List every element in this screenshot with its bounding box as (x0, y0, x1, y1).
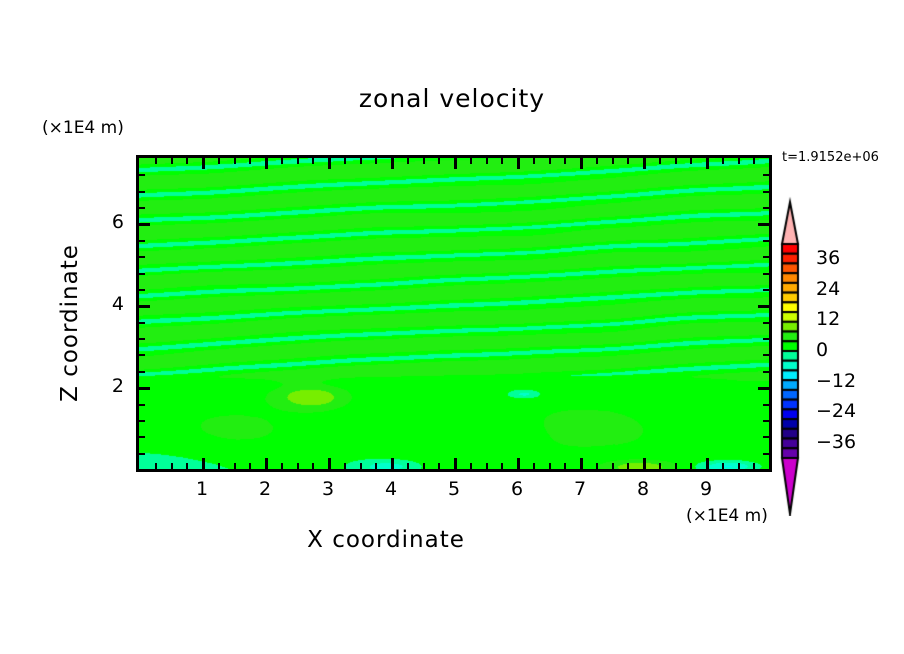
x-major-tick (580, 158, 583, 169)
y-minor-tick (139, 371, 145, 373)
x-minor-tick (690, 463, 692, 469)
x-minor-tick (249, 158, 251, 164)
x-minor-tick (549, 158, 551, 164)
y-major-tick (758, 305, 769, 308)
x-minor-tick (155, 158, 157, 164)
x-minor-tick (722, 158, 724, 164)
x-minor-tick (612, 463, 614, 469)
x-minor-tick (690, 158, 692, 164)
y-minor-tick (763, 273, 769, 275)
x-major-tick (202, 158, 205, 169)
x-minor-tick (234, 158, 236, 164)
x-minor-tick (407, 158, 409, 164)
y-minor-tick (139, 338, 145, 340)
x-minor-tick (234, 463, 236, 469)
y-minor-tick (139, 322, 145, 324)
x-minor-tick (438, 158, 440, 164)
x-minor-tick (297, 158, 299, 164)
x-major-tick (643, 158, 646, 169)
y-minor-tick (763, 371, 769, 373)
x-major-tick (454, 158, 457, 169)
x-minor-tick (360, 463, 362, 469)
colorbar: 3624120−12−24−36 (776, 196, 816, 516)
y-minor-tick (139, 174, 145, 176)
x-minor-tick (186, 463, 188, 469)
x-minor-tick (186, 158, 188, 164)
x-minor-tick (344, 463, 346, 469)
y-major-tick (139, 387, 150, 390)
y-minor-tick (763, 240, 769, 242)
y-minor-tick (763, 453, 769, 455)
x-tick-label: 1 (182, 478, 222, 500)
x-minor-tick (312, 158, 314, 164)
x-minor-tick (753, 463, 755, 469)
x-minor-tick (564, 158, 566, 164)
x-major-tick (517, 158, 520, 169)
x-minor-tick (627, 158, 629, 164)
colorbar-gradient (776, 196, 816, 516)
y-minor-tick (139, 404, 145, 406)
x-major-tick (265, 158, 268, 169)
x-minor-tick (627, 463, 629, 469)
y-minor-tick (139, 256, 145, 258)
x-minor-tick (596, 158, 598, 164)
y-minor-tick (139, 354, 145, 356)
y-minor-tick (763, 256, 769, 258)
x-tick-label: 3 (308, 478, 348, 500)
x-axis-unit-label: (×1E4 m) (686, 506, 768, 526)
x-tick-label: 4 (371, 478, 411, 500)
colorbar-tick-label: −36 (816, 431, 856, 453)
y-major-tick (139, 305, 150, 308)
y-minor-tick (763, 174, 769, 176)
colorbar-tick-label: −12 (816, 370, 856, 392)
x-minor-tick (533, 158, 535, 164)
x-minor-tick (423, 463, 425, 469)
x-tick-label: 8 (623, 478, 663, 500)
x-major-tick (517, 458, 520, 469)
y-minor-tick (763, 191, 769, 193)
y-minor-tick (139, 273, 145, 275)
x-minor-tick (486, 463, 488, 469)
x-minor-tick (486, 158, 488, 164)
y-minor-tick (763, 404, 769, 406)
x-major-tick (202, 458, 205, 469)
x-minor-tick (218, 158, 220, 164)
x-major-tick (265, 458, 268, 469)
x-minor-tick (171, 463, 173, 469)
page-title: zonal velocity (0, 84, 904, 113)
x-minor-tick (312, 463, 314, 469)
x-minor-tick (596, 463, 598, 469)
x-minor-tick (675, 158, 677, 164)
figure-root: zonal velocity (×1E4 m) (×1E4 m) t=1.915… (0, 0, 904, 654)
y-minor-tick (139, 420, 145, 422)
x-tick-label: 5 (434, 478, 474, 500)
x-minor-tick (738, 158, 740, 164)
y-minor-tick (139, 453, 145, 455)
y-minor-tick (139, 436, 145, 438)
x-minor-tick (470, 463, 472, 469)
x-minor-tick (722, 463, 724, 469)
x-minor-tick (360, 158, 362, 164)
plot-area (136, 155, 772, 472)
x-major-tick (643, 458, 646, 469)
x-major-tick (706, 158, 709, 169)
x-major-tick (391, 158, 394, 169)
x-minor-tick (407, 463, 409, 469)
y-minor-tick (763, 338, 769, 340)
y-tick-label: 2 (84, 375, 124, 397)
x-minor-tick (281, 158, 283, 164)
x-minor-tick (375, 158, 377, 164)
x-minor-tick (218, 463, 220, 469)
x-minor-tick (171, 158, 173, 164)
x-minor-tick (549, 463, 551, 469)
y-minor-tick (763, 207, 769, 209)
x-minor-tick (344, 158, 346, 164)
y-minor-tick (763, 436, 769, 438)
x-minor-tick (753, 158, 755, 164)
y-tick-label: 4 (84, 293, 124, 315)
x-minor-tick (533, 463, 535, 469)
y-major-tick (758, 387, 769, 390)
x-tick-label: 9 (686, 478, 726, 500)
x-minor-tick (438, 463, 440, 469)
x-tick-label: 7 (560, 478, 600, 500)
y-minor-tick (763, 322, 769, 324)
y-tick-label: 6 (84, 211, 124, 233)
time-annotation: t=1.9152e+06 (782, 150, 879, 165)
y-minor-tick (763, 420, 769, 422)
x-minor-tick (501, 158, 503, 164)
colorbar-tick-label: 36 (816, 247, 840, 269)
x-minor-tick (501, 463, 503, 469)
y-major-tick (139, 223, 150, 226)
x-minor-tick (659, 463, 661, 469)
x-major-tick (706, 458, 709, 469)
contour-field (139, 158, 769, 469)
colorbar-tick-label: 24 (816, 278, 840, 300)
x-major-tick (580, 458, 583, 469)
x-tick-label: 6 (497, 478, 537, 500)
x-major-tick (328, 458, 331, 469)
x-tick-label: 2 (245, 478, 285, 500)
x-minor-tick (675, 463, 677, 469)
colorbar-tick-label: 0 (816, 339, 828, 361)
y-minor-tick (139, 289, 145, 291)
y-minor-tick (139, 240, 145, 242)
x-minor-tick (249, 463, 251, 469)
x-minor-tick (564, 463, 566, 469)
x-minor-tick (281, 463, 283, 469)
colorbar-tick-label: 12 (816, 308, 840, 330)
x-axis-title: X coordinate (0, 527, 772, 553)
x-major-tick (454, 458, 457, 469)
x-minor-tick (155, 463, 157, 469)
y-axis-title: Z coordinate (57, 193, 83, 453)
y-major-tick (758, 223, 769, 226)
x-minor-tick (297, 463, 299, 469)
x-major-tick (328, 158, 331, 169)
x-minor-tick (423, 158, 425, 164)
y-minor-tick (139, 207, 145, 209)
y-minor-tick (763, 354, 769, 356)
x-major-tick (391, 458, 394, 469)
x-minor-tick (612, 158, 614, 164)
x-minor-tick (659, 158, 661, 164)
colorbar-tick-label: −24 (816, 400, 856, 422)
y-minor-tick (763, 289, 769, 291)
y-axis-unit-label: (×1E4 m) (42, 118, 124, 138)
x-minor-tick (470, 158, 472, 164)
y-minor-tick (139, 191, 145, 193)
x-minor-tick (375, 463, 377, 469)
x-minor-tick (738, 463, 740, 469)
